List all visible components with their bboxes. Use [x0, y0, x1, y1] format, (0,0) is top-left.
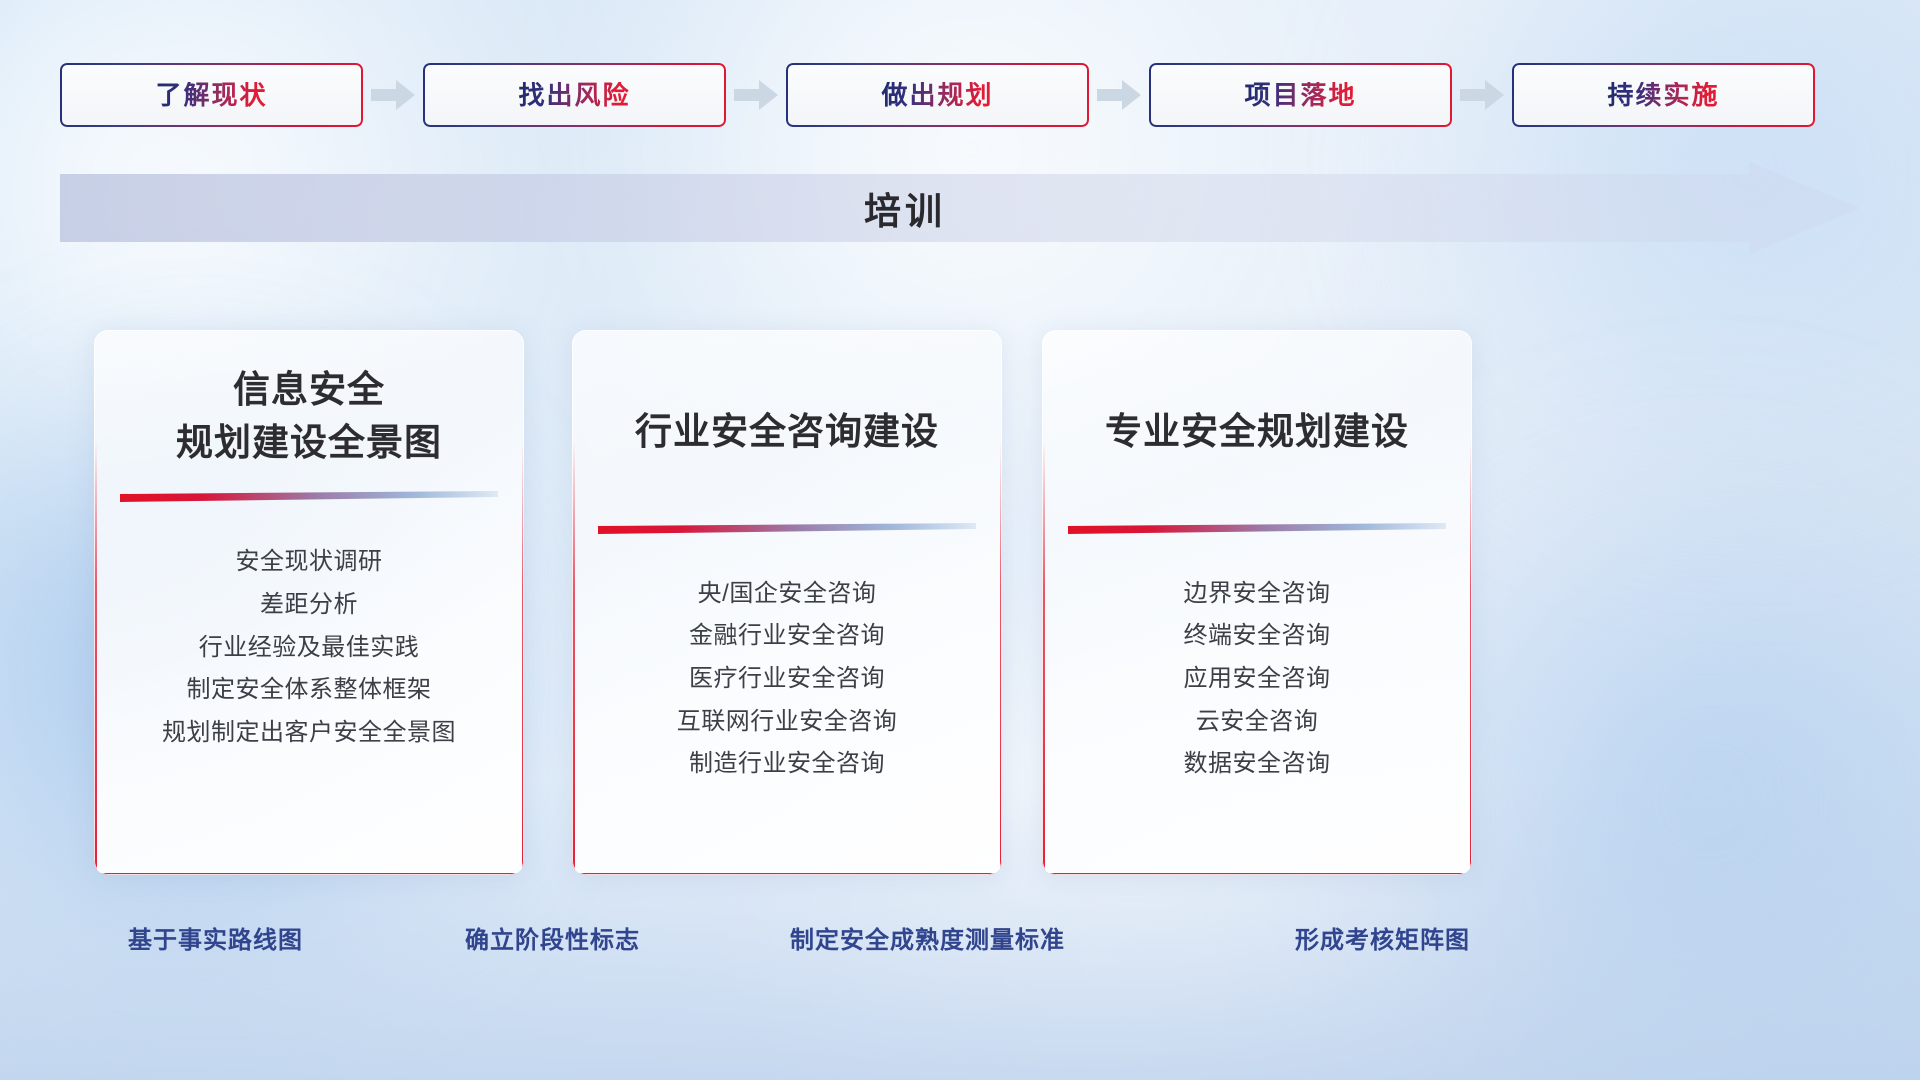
caption-roadmap: 基于事实路线图 — [128, 920, 303, 955]
card-divider — [120, 491, 498, 507]
card-list-item: 云安全咨询 — [1068, 701, 1446, 744]
card-list-item: 差距分析 — [120, 584, 498, 627]
card-item-list: 边界安全咨询 终端安全咨询 应用安全咨询 云安全咨询 数据安全咨询 — [1068, 573, 1446, 787]
process-step-label: 了解现状 — [155, 82, 267, 108]
infographic-stage: 了解现状 找出风险 做出规划 项目落地 — [0, 0, 1920, 1080]
card-title-line: 行业安全咨询建设 — [635, 406, 939, 459]
card-title-line: 专业安全规划建设 — [1105, 406, 1409, 459]
card-list-item: 安全现状调研 — [120, 541, 498, 584]
card-list-item: 数据安全咨询 — [1068, 743, 1446, 786]
caption-milestones: 确立阶段性标志 — [465, 920, 640, 955]
card-list-item: 制定安全体系整体框架 — [120, 669, 498, 712]
process-step-2[interactable]: 找出风险 — [423, 63, 726, 127]
card-list-item: 制造行业安全咨询 — [598, 743, 976, 786]
chevron-right-arrow-icon — [726, 80, 786, 110]
process-step-row: 了解现状 找出风险 做出规划 项目落地 — [60, 62, 1860, 128]
chevron-right-arrow-icon — [1452, 80, 1512, 110]
banner-title: 培训 — [60, 162, 1750, 254]
process-step-1[interactable]: 了解现状 — [60, 63, 363, 127]
process-step-label: 持续实施 — [1607, 82, 1719, 108]
card-list-item: 终端安全咨询 — [1068, 615, 1446, 658]
caption-row: 基于事实路线图 确立阶段性标志 制定安全成熟度测量标准 形成考核矩阵图 — [0, 920, 1920, 980]
caption-maturity-standard: 制定安全成熟度测量标准 — [790, 920, 1065, 955]
card-title: 专业安全规划建设 — [1105, 364, 1409, 459]
process-step-3[interactable]: 做出规划 — [786, 63, 1089, 127]
card-title-line: 规划建设全景图 — [176, 417, 442, 470]
card-list-item: 医疗行业安全咨询 — [598, 658, 976, 701]
card-item-list: 安全现状调研 差距分析 行业经验及最佳实践 制定安全体系整体框架 规划制定出客户… — [120, 541, 498, 755]
card-title: 行业安全咨询建设 — [635, 364, 939, 459]
card-item-list: 央/国企安全咨询 金融行业安全咨询 医疗行业安全咨询 互联网行业安全咨询 制造行… — [598, 573, 976, 787]
card-divider — [1068, 523, 1446, 539]
card-list-item: 应用安全咨询 — [1068, 658, 1446, 701]
card-list-item: 金融行业安全咨询 — [598, 615, 976, 658]
card-list-item: 行业经验及最佳实践 — [120, 627, 498, 670]
card-row: 信息安全 规划建设全景图 — [0, 330, 1920, 875]
card-professional-security-planning[interactable]: 专业安全规划建设 — [1042, 330, 1472, 875]
card-information-security-panorama[interactable]: 信息安全 规划建设全景图 — [94, 330, 524, 875]
process-step-label: 做出规划 — [881, 82, 993, 108]
chevron-right-arrow-icon — [1089, 80, 1149, 110]
card-list-item: 边界安全咨询 — [1068, 573, 1446, 616]
caption-assessment-matrix: 形成考核矩阵图 — [1295, 920, 1470, 955]
process-step-4[interactable]: 项目落地 — [1149, 63, 1452, 127]
process-step-label: 项目落地 — [1244, 82, 1356, 108]
card-divider — [598, 523, 976, 539]
card-title-line: 信息安全 — [176, 364, 442, 417]
card-industry-security-consulting[interactable]: 行业安全咨询建设 — [572, 330, 1002, 875]
card-list-item: 互联网行业安全咨询 — [598, 701, 976, 744]
process-step-5[interactable]: 持续实施 — [1512, 63, 1815, 127]
card-list-item: 央/国企安全咨询 — [598, 573, 976, 616]
process-step-label: 找出风险 — [518, 82, 630, 108]
card-list-item: 规划制定出客户安全全景图 — [120, 712, 498, 755]
training-banner: 培训 — [60, 162, 1860, 254]
chevron-right-arrow-icon — [363, 80, 423, 110]
card-title: 信息安全 规划建设全景图 — [176, 364, 442, 469]
